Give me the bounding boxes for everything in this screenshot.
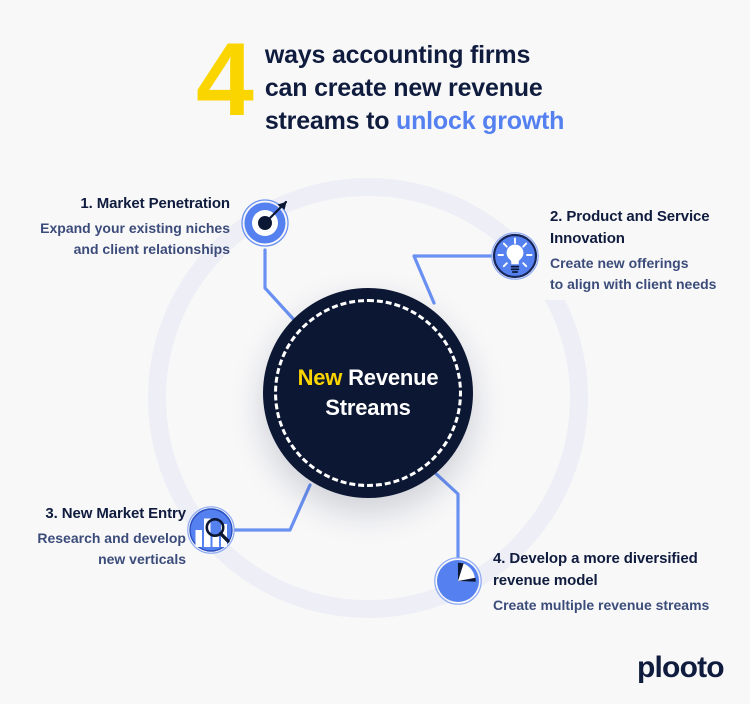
item-2-text: 2. Product and Service Innovation Create…	[550, 206, 736, 295]
pie-chart-icon	[434, 557, 482, 605]
bar-chart-magnifier-icon	[187, 506, 235, 554]
item-1-desc-line-2: and client relationships	[14, 239, 230, 260]
hub-label: New Revenue Streams	[263, 288, 473, 498]
item-4-text: 4. Develop a more diversified revenue mo…	[493, 548, 733, 616]
infographic-canvas: 4 ways accounting firms can create new r…	[0, 0, 750, 704]
node-item-3[interactable]	[187, 506, 235, 554]
node-item-1[interactable]	[241, 199, 289, 247]
node-item-4[interactable]	[434, 557, 482, 605]
item-1-desc-line-1: Expand your existing niches	[14, 218, 230, 239]
node-item-2[interactable]	[491, 232, 539, 280]
hub-word-revenue: Revenue	[342, 365, 438, 390]
item-2-desc-line-1: Create new offerings	[550, 253, 736, 274]
hub-line-1: New Revenue	[298, 363, 439, 393]
item-1-text: 1. Market Penetration Expand your existi…	[14, 193, 230, 260]
hub-line-2: Streams	[325, 393, 410, 423]
item-3-text: 3. New Market Entry Research and develop…	[10, 503, 186, 570]
lightbulb-icon	[491, 232, 539, 280]
center-hub: New Revenue Streams	[263, 288, 473, 498]
item-2-title: 2. Product and Service Innovation	[550, 206, 736, 250]
item-3-desc-line-2: new verticals	[10, 549, 186, 570]
item-3-title: 3. New Market Entry	[10, 503, 186, 525]
item-3-desc-line-1: Research and develop	[10, 528, 186, 549]
item-1-title: 1. Market Penetration	[14, 193, 230, 215]
item-4-desc-line-1: Create multiple revenue streams	[493, 595, 733, 616]
item-2-desc-line-2: to align with client needs	[550, 274, 736, 295]
hub-word-new: New	[298, 365, 343, 390]
target-icon	[241, 199, 289, 247]
item-4-title: 4. Develop a more diversified revenue mo…	[493, 548, 733, 592]
